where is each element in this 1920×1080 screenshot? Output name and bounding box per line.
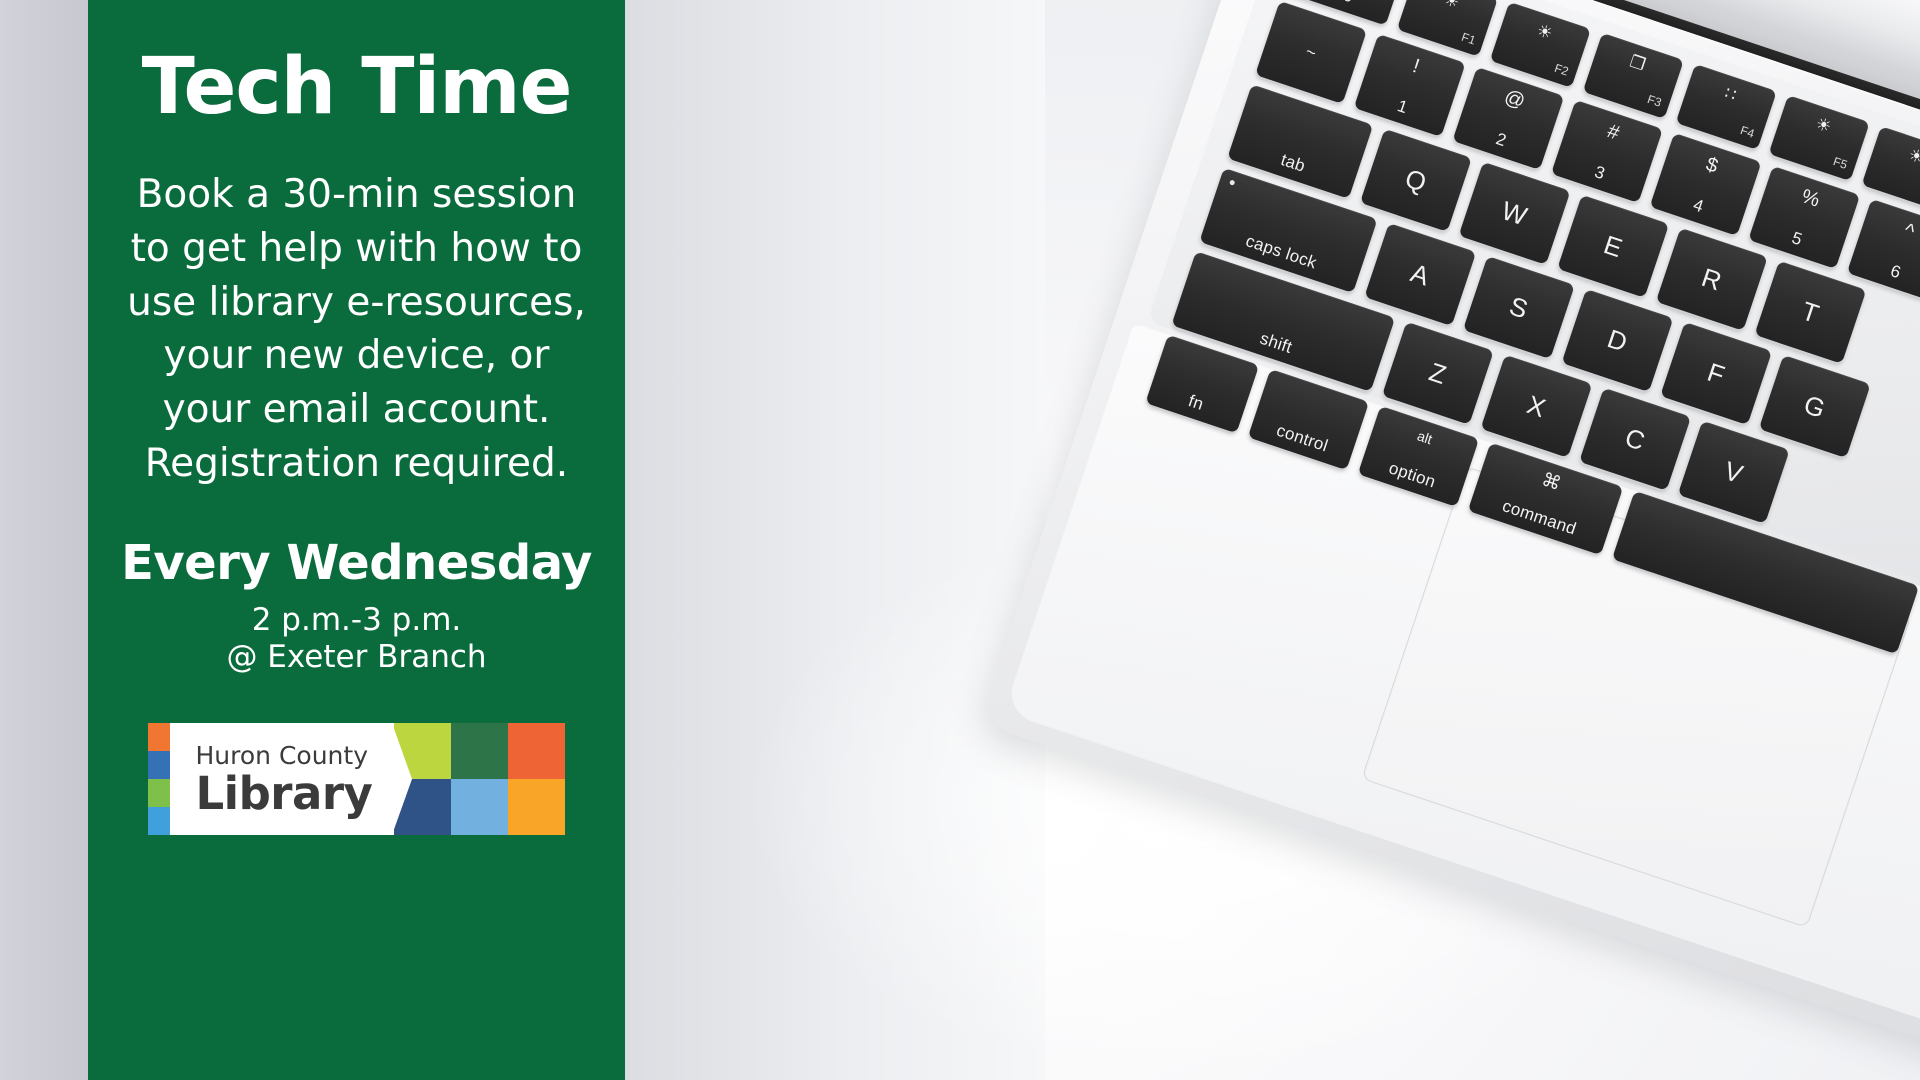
description-line: use library e-resources, [104,276,609,330]
logo-line-2: Library [196,771,394,816]
logo-color-tiles [394,723,566,835]
logo-tile-amber [508,779,565,835]
brightness-down-icon: ☀ [1408,0,1496,24]
key-label: S [1471,281,1566,335]
event-location: @ Exeter Branch [226,639,486,677]
logo-strip-swatch-green [148,779,170,807]
logo-tile-navy [394,779,451,835]
logo-strip-swatch-lightblue [148,807,170,835]
event-time: 2 p.m.-3 p.m. [252,602,462,640]
keyboard-backlight-up-icon: ☀ [1872,134,1920,180]
key-label: G [1767,380,1862,434]
key-label: V [1686,445,1781,499]
key-label: F5 [1831,154,1849,172]
logo-strip-swatch-blue [148,751,170,779]
key-label: X [1489,379,1584,433]
logo-left-color-strip [148,723,170,835]
description-line: your email account. [104,383,609,437]
logo-tile-lime [394,723,451,779]
logo-tile-orange [508,723,565,779]
key-label: F1 [1460,30,1478,48]
event-recurrence: Every Wednesday [121,537,592,590]
key-label: T [1763,285,1858,339]
key-label: Q [1368,153,1463,207]
description-line: to get help with how to [104,222,609,276]
logo-wordmark: Huron County Library [170,723,394,835]
key-label: D [1570,314,1665,368]
logo-line-1: Huron County [196,743,394,769]
caps-lock-indicator-icon [1229,179,1235,185]
key-label: A [1373,248,1468,302]
logo-strip-swatch-orange [148,723,170,751]
description-line: Registration required. [104,437,609,491]
key-label: E [1565,219,1660,273]
key-label: F3 [1646,92,1664,110]
huron-county-library-logo: Huron County Library [148,723,566,835]
key-shift-label: ^ [1862,207,1920,255]
left-gutter [0,0,88,1080]
key-label: C [1587,412,1682,466]
event-description: Book a 30-min session to get help with h… [104,168,609,491]
key-label: W [1467,186,1562,240]
key-label: F [1668,347,1763,401]
description-line: Book a 30-min session [104,168,609,222]
key-label: F4 [1739,123,1757,141]
laptop-photo: esc ☀ F1 ☀ F2 ❐ F3 ∷ F4 ☀ F5 [625,0,1920,1080]
key-label: Z [1390,346,1485,400]
key-label: F2 [1553,61,1571,79]
logo-tile-skyblue [451,779,508,835]
logo-tile-darkgreen [451,723,508,779]
page-title: Tech Time [142,48,572,126]
event-panel: Tech Time Book a 30-min session to get h… [88,0,625,1080]
poster-canvas: esc ☀ F1 ☀ F2 ❐ F3 ∷ F4 ☀ F5 [0,0,1920,1080]
description-line: your new device, or [104,329,609,383]
key-label: R [1664,252,1759,306]
key-label: ~ [1265,30,1358,75]
